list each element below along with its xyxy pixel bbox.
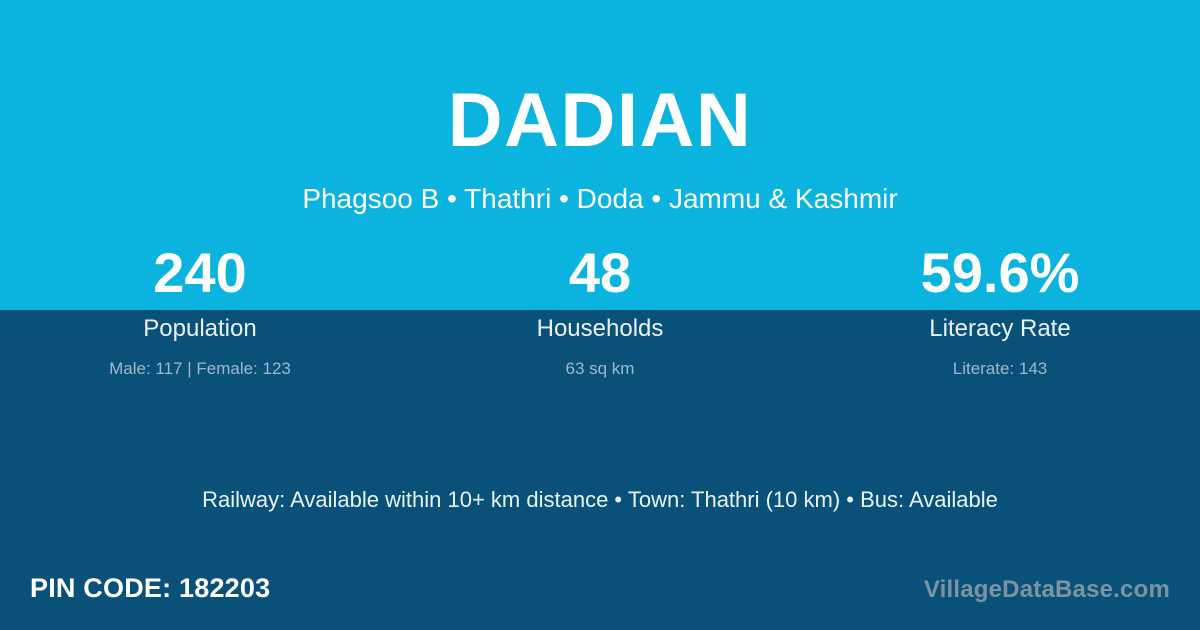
stat-population-detail: Male: 117 | Female: 123 bbox=[0, 360, 400, 377]
stat-households-value: 48 bbox=[400, 245, 800, 307]
stat-literacy-rate-label: Literacy Rate bbox=[800, 317, 1200, 341]
stat-population-label: Population bbox=[0, 317, 400, 341]
stat-population: 240 Population Male: 117 | Female: 123 bbox=[0, 245, 400, 377]
stat-literacy-rate: 59.6% Literacy Rate Literate: 143 bbox=[800, 245, 1200, 377]
transport-info: Railway: Available within 10+ km distanc… bbox=[0, 487, 1200, 513]
stat-households: 48 Households 63 sq km bbox=[400, 245, 800, 377]
stat-literacy-rate-detail: Literate: 143 bbox=[800, 360, 1200, 377]
stat-households-label: Households bbox=[400, 317, 800, 341]
village-info-card: DADIAN Phagsoo B • Thathri • Doda • Jamm… bbox=[0, 0, 1200, 630]
stat-population-value: 240 bbox=[0, 245, 400, 307]
stats-row: 240 Population Male: 117 | Female: 123 4… bbox=[0, 245, 1200, 377]
stat-literacy-rate-value: 59.6% bbox=[800, 245, 1200, 307]
breadcrumb: Phagsoo B • Thathri • Doda • Jammu & Kas… bbox=[0, 182, 1200, 216]
pin-code: PIN CODE: 182203 bbox=[30, 575, 270, 602]
site-brand: VillageDataBase.com bbox=[924, 578, 1170, 602]
page-title: DADIAN bbox=[0, 83, 1200, 159]
stat-households-detail: 63 sq km bbox=[400, 360, 800, 377]
